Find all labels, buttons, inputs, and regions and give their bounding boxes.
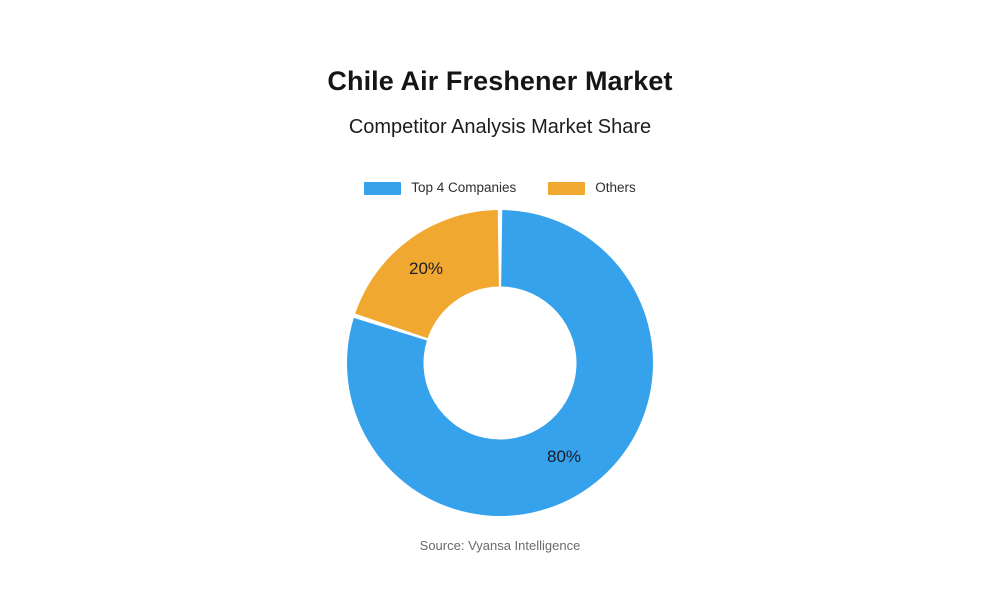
donut-slice-others[interactable] xyxy=(355,210,499,338)
legend-item-others[interactable]: Others xyxy=(548,180,636,196)
chart-subtitle: Competitor Analysis Market Share xyxy=(0,113,1000,141)
legend-swatch-top-4-companies xyxy=(364,182,401,195)
donut-slices xyxy=(347,210,653,516)
donut-chart-figure: Chile Air Freshener Market Competitor An… xyxy=(0,0,1000,600)
donut-plot-area xyxy=(347,210,653,516)
chart-title: Chile Air Freshener Market xyxy=(0,64,1000,98)
legend-item-top-4-companies[interactable]: Top 4 Companies xyxy=(364,180,516,196)
chart-source-note: Source: Vyansa Intelligence xyxy=(0,537,1000,555)
donut-svg xyxy=(347,210,653,516)
legend-swatch-others xyxy=(548,182,585,195)
chart-legend: Top 4 Companies Others xyxy=(0,180,1000,196)
legend-label-top-4-companies: Top 4 Companies xyxy=(411,180,516,196)
legend-label-others: Others xyxy=(595,180,636,196)
